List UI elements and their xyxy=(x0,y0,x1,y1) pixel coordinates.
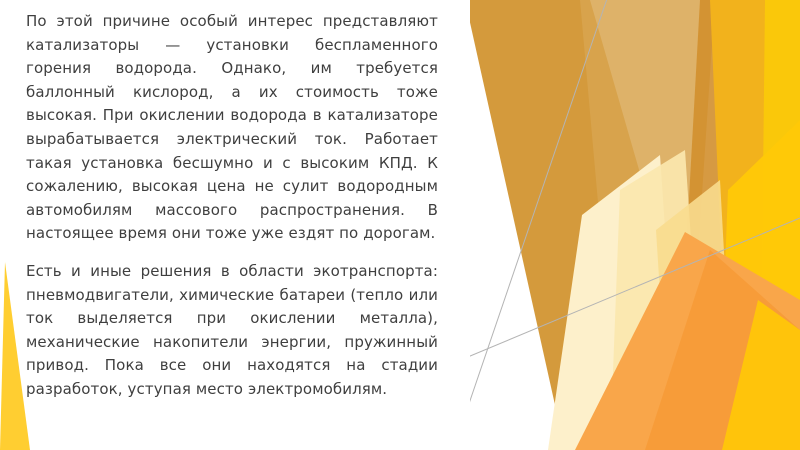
shape-sand xyxy=(656,180,735,450)
shape-ochre-main xyxy=(470,0,720,450)
shape-cream-mid xyxy=(610,150,705,450)
shape-gold-bright xyxy=(718,120,800,450)
shape-ochre-dark xyxy=(675,0,770,450)
shape-gold-band xyxy=(760,0,800,450)
guide-line-steep xyxy=(470,0,610,430)
abstract-polygon-graphic xyxy=(470,0,800,450)
guide-line-shallow xyxy=(470,218,800,450)
shape-orange-deep xyxy=(645,250,800,450)
shape-ochre-light xyxy=(580,0,715,450)
shape-orange-main xyxy=(575,232,800,450)
slide-body-text: По этой причине особый интерес представл… xyxy=(26,10,438,402)
shape-gold-corner xyxy=(722,300,800,450)
shape-amber-band xyxy=(710,0,800,450)
shape-cream-large xyxy=(548,155,680,450)
slide-canvas: По этой причине особый интерес представл… xyxy=(0,0,800,450)
body-paragraph-2: Есть и иные решения в области экотранспо… xyxy=(26,260,438,402)
body-paragraph-1: По этой причине особый интерес представл… xyxy=(26,10,438,246)
